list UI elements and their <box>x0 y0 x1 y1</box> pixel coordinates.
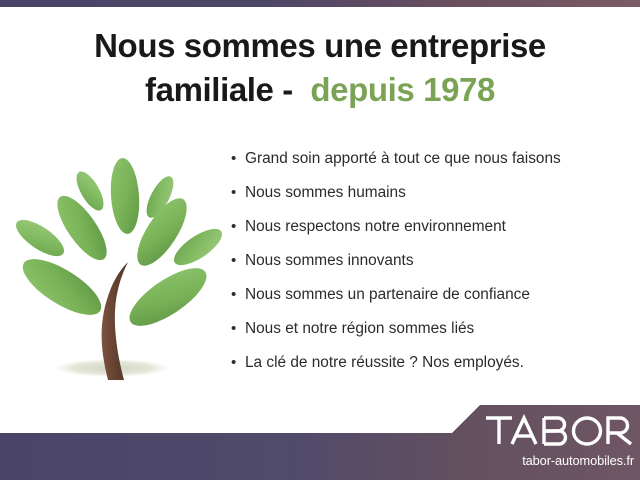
bullet-point-icon: • <box>231 148 245 170</box>
tabor-wordmark-icon <box>484 414 634 447</box>
bullet-point-icon: • <box>231 182 245 204</box>
top-accent-strip <box>0 0 640 7</box>
headline-line-2: familiale - depuis 1978 <box>0 68 640 112</box>
list-item: • Nous respectons notre environnement <box>231 216 631 250</box>
list-item: • Nous sommes innovants <box>231 250 631 284</box>
list-item-label: La clé de notre réussite ? Nos employés. <box>245 352 524 374</box>
list-item-label: Grand soin apporté à tout ce que nous fa… <box>245 148 561 170</box>
list-item: • Nous sommes humains <box>231 182 631 216</box>
brand-logo[interactable]: tabor-automobiles.fr <box>484 414 634 468</box>
list-item-label: Nous sommes innovants <box>245 250 414 272</box>
benefits-list: • Grand soin apporté à tout ce que nous … <box>231 148 631 386</box>
bullet-point-icon: • <box>231 318 245 340</box>
bullet-point-icon: • <box>231 352 245 374</box>
headline-line-2-main: familiale - <box>145 71 310 108</box>
tree-illustration <box>12 152 227 387</box>
leaf <box>121 258 215 337</box>
headline-accent-year: depuis 1978 <box>310 71 495 108</box>
page-title: Nous sommes une entreprise familiale - d… <box>0 24 640 111</box>
list-item: • Grand soin apporté à tout ce que nous … <box>231 148 631 182</box>
headline-line-1: Nous sommes une entreprise <box>0 24 640 68</box>
leaf <box>108 157 141 235</box>
slide-canvas: Nous sommes une entreprise familiale - d… <box>0 0 640 480</box>
brand-tagline: tabor-automobiles.fr <box>484 453 634 468</box>
leaf <box>15 249 109 326</box>
list-item: • Nous sommes un partenaire de confiance <box>231 284 631 318</box>
bullet-point-icon: • <box>231 216 245 238</box>
bullet-point-icon: • <box>231 284 245 306</box>
list-item: • Nous et notre région sommes liés <box>231 318 631 352</box>
tree-leaves <box>12 157 227 336</box>
leaf <box>12 213 69 263</box>
bullet-point-icon: • <box>231 250 245 272</box>
list-item-label: Nous sommes humains <box>245 182 406 204</box>
list-item-label: Nous sommes un partenaire de confiance <box>245 284 530 306</box>
list-item-label: Nous respectons notre environnement <box>245 216 506 238</box>
list-item: • La clé de notre réussite ? Nos employé… <box>231 352 631 386</box>
list-item-label: Nous et notre région sommes liés <box>245 318 474 340</box>
